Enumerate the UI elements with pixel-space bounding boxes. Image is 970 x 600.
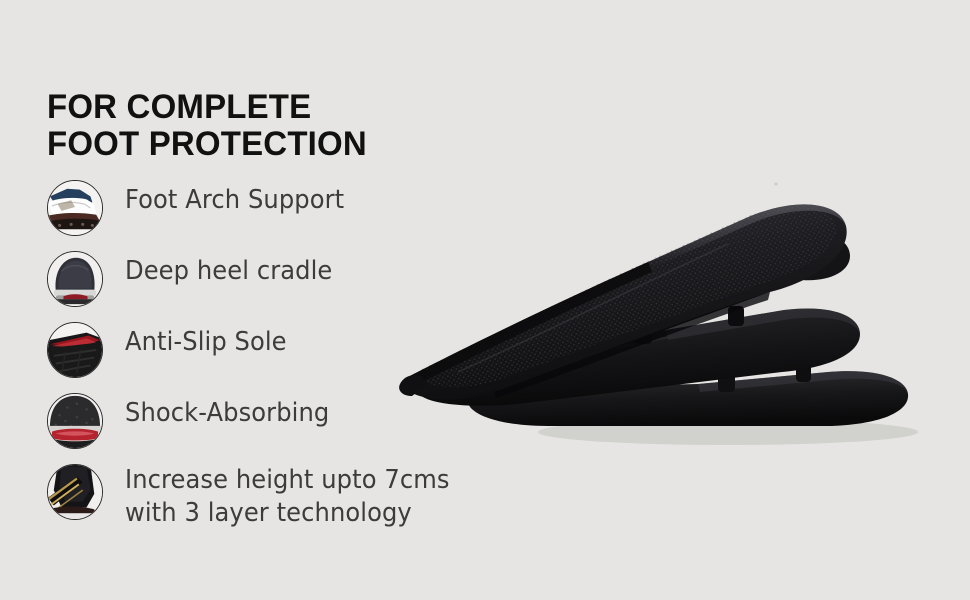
product-image-insole-stack bbox=[398, 140, 958, 460]
feature-label: Increase height upto 7cms with 3 layer t… bbox=[125, 464, 450, 530]
heel-cup-icon bbox=[47, 251, 103, 307]
feature-label: Shock-Absorbing bbox=[125, 397, 329, 430]
page-title-line-1: FOR COMPLETE bbox=[47, 89, 474, 126]
boot-height-icon bbox=[47, 464, 103, 520]
feature-label: Deep heel cradle bbox=[125, 255, 332, 288]
air-cushion-icon bbox=[47, 393, 103, 449]
infographic-canvas: FOR COMPLETE FOOT PROTECTION bbox=[0, 0, 970, 600]
feature-item-increase-height: Increase height upto 7cms with 3 layer t… bbox=[47, 462, 477, 552]
feature-label: Foot Arch Support bbox=[125, 184, 344, 217]
feature-label: Anti-Slip Sole bbox=[125, 326, 287, 359]
sneaker-arch-icon bbox=[47, 180, 103, 236]
sole-tread-icon bbox=[47, 322, 103, 378]
